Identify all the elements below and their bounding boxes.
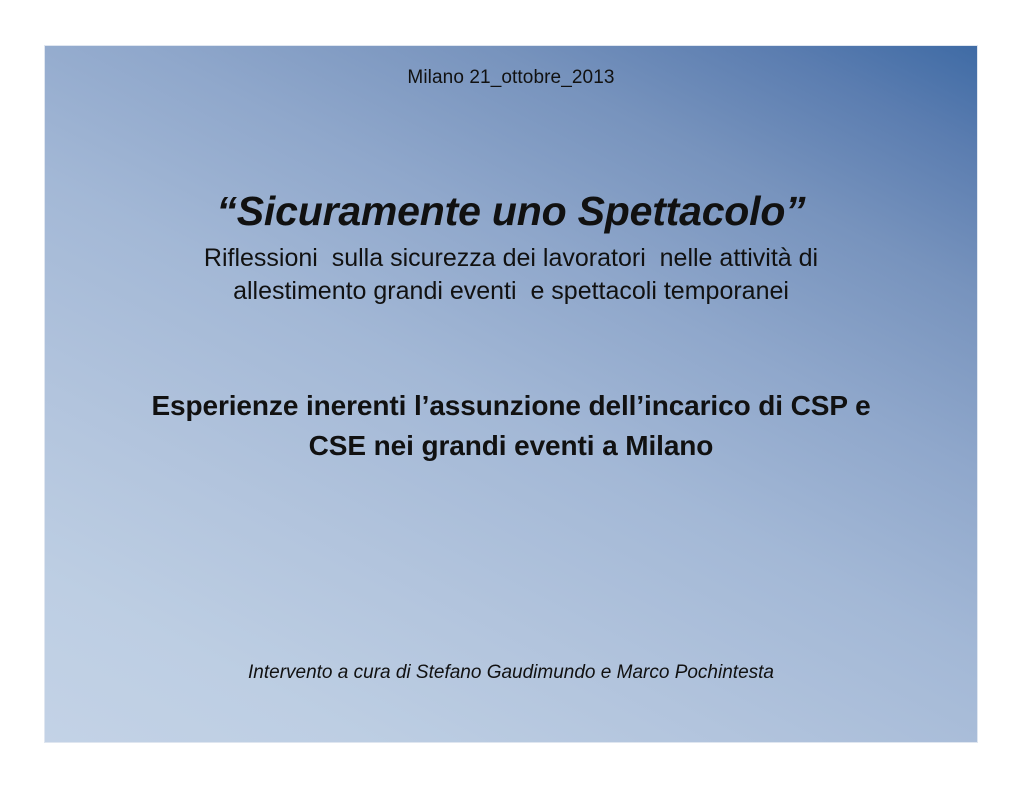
slide-canvas: Milano 21_ottobre_2013 “Sicuramente uno … (0, 0, 1024, 791)
slide-subtitle: Riflessioni sulla sicurezza dei lavorato… (45, 242, 977, 308)
slide-main-title: “Sicuramente uno Spettacolo” (45, 186, 977, 236)
presentation-slide: Milano 21_ottobre_2013 “Sicuramente uno … (44, 45, 978, 743)
slide-content-area: Milano 21_ottobre_2013 “Sicuramente uno … (45, 46, 977, 742)
slide-date-header: Milano 21_ottobre_2013 (45, 66, 977, 89)
slide-section-heading: Esperienze inerenti l’assunzione dell’in… (45, 386, 977, 466)
slide-credits-line: Intervento a cura di Stefano Gaudimundo … (45, 661, 977, 684)
